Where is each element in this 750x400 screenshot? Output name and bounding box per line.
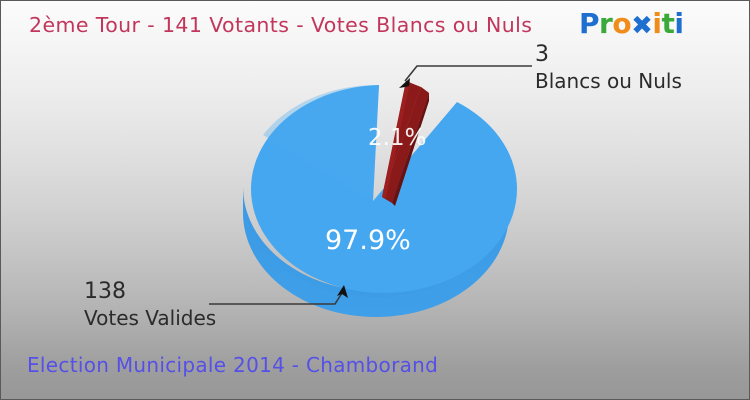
logo-letter-x-star-icon: ✖	[631, 13, 652, 39]
proxiti-logo[interactable]: Pro✖iti	[579, 10, 684, 38]
logo-letter-p: P	[579, 10, 599, 38]
annotation-blancs-label: Blancs ou Nuls	[535, 69, 682, 95]
pie-slice-votes-valides	[243, 83, 517, 317]
annotation-votes-valides: 138 Votes Valides	[84, 278, 216, 332]
logo-letter-o: o	[612, 10, 631, 38]
leader-line-valides	[209, 285, 348, 304]
chart-canvas: 2ème Tour - 141 Votants - Votes Blancs o…	[0, 0, 750, 400]
leader-line-blancs	[399, 66, 532, 88]
annotation-valides-value: 138	[84, 278, 216, 306]
footer-caption: Election Municipale 2014 - Chamborand	[27, 353, 438, 377]
pie-label-percent-small: 2.1%	[368, 125, 426, 151]
logo-letter-i1: i	[652, 10, 661, 38]
annotation-blancs-value: 3	[535, 41, 682, 69]
logo-letter-t: t	[662, 10, 675, 38]
logo-letter-r: r	[599, 10, 612, 38]
page-title: 2ème Tour - 141 Votants - Votes Blancs o…	[29, 13, 532, 37]
annotation-valides-label: Votes Valides	[84, 306, 216, 332]
pie-label-percent-large: 97.9%	[325, 225, 411, 256]
annotation-blancs-ou-nuls: 3 Blancs ou Nuls	[535, 41, 682, 95]
logo-letter-i2: i	[674, 10, 683, 38]
